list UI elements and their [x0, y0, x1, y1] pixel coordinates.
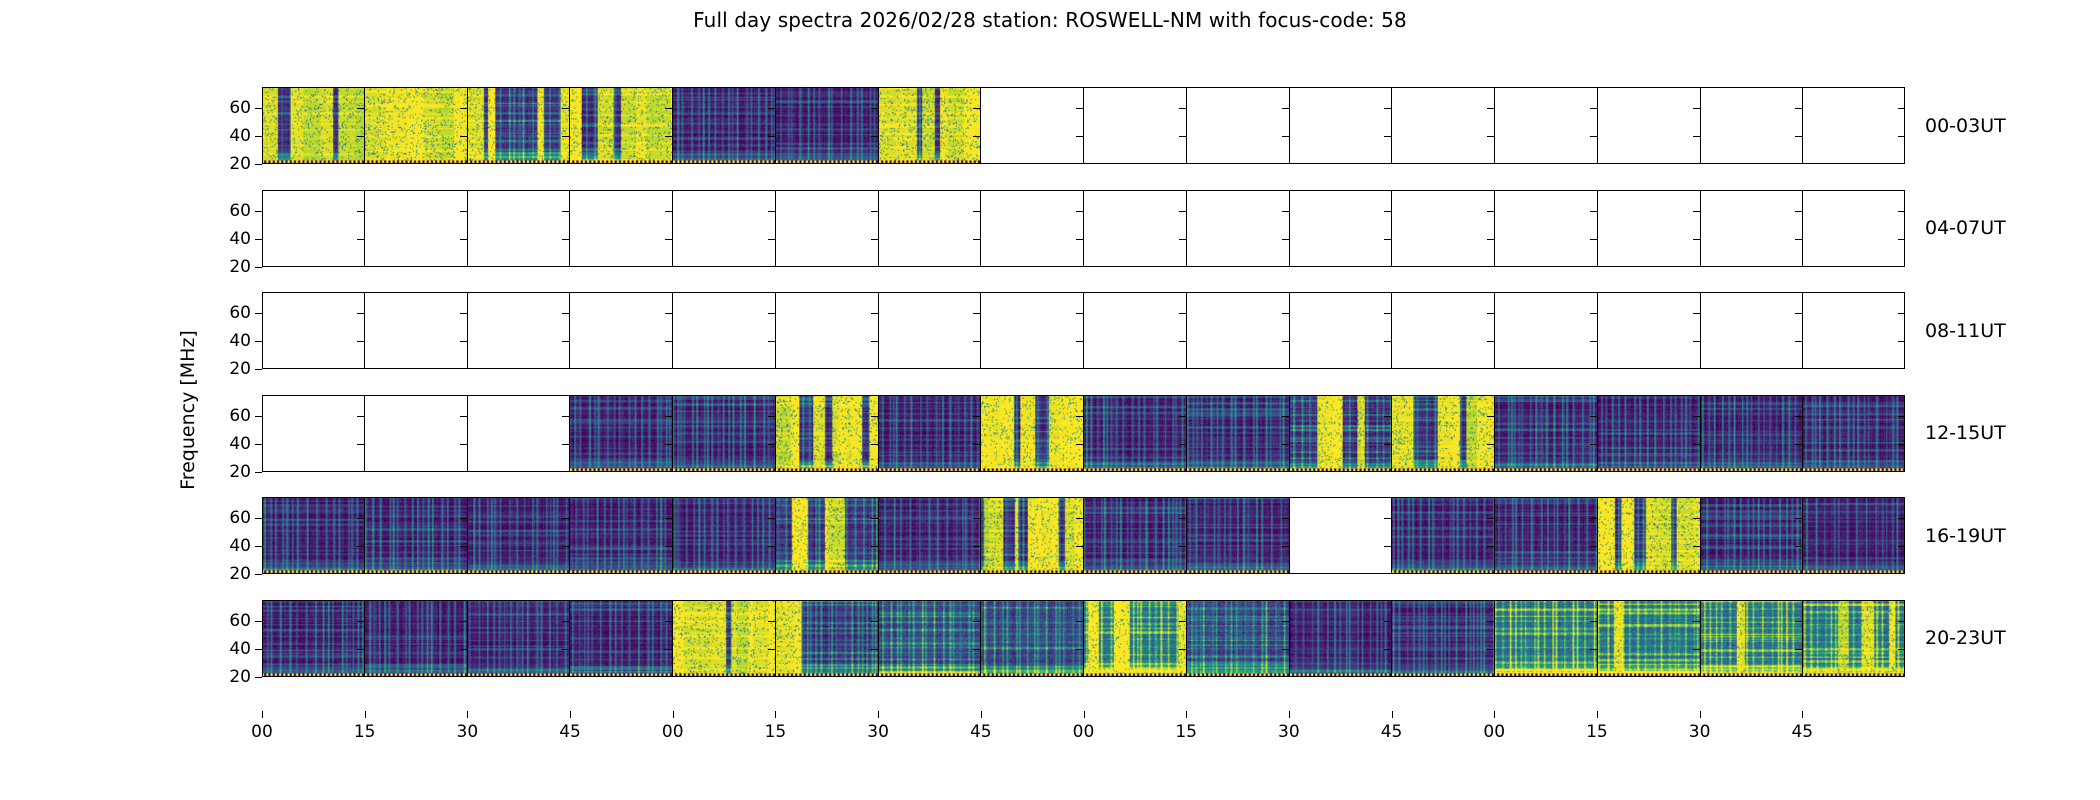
panel-empty[interactable] — [981, 190, 1084, 267]
panel-empty[interactable] — [879, 292, 982, 369]
x-tick-mark — [1084, 711, 1085, 718]
y-tick-mark — [1693, 518, 1700, 519]
panel-spectrogram[interactable] — [1803, 497, 1905, 574]
panel-spectrogram[interactable] — [1290, 395, 1393, 472]
y-tick-mark — [1590, 621, 1597, 622]
x-tick-mark — [1392, 711, 1393, 718]
y-tick-mark — [871, 239, 878, 240]
x-tick-label: 45 — [1791, 722, 1813, 742]
panel-empty[interactable] — [468, 190, 571, 267]
y-tick-mark — [460, 416, 467, 417]
y-tick-mark — [357, 444, 364, 445]
y-tick-label: 40 — [229, 536, 251, 556]
panel-empty[interactable] — [981, 292, 1084, 369]
y-tick-mark — [562, 621, 569, 622]
x-tick-label: 45 — [970, 722, 992, 742]
panel-spectrogram[interactable] — [365, 600, 468, 677]
panel-spectrogram[interactable] — [1187, 395, 1290, 472]
spectrogram-row[interactable]: 204060 — [262, 292, 1905, 369]
y-tick-mark — [871, 621, 878, 622]
panel-empty[interactable] — [468, 292, 571, 369]
y-tick-mark — [1590, 136, 1597, 137]
y-tick-mark — [562, 341, 569, 342]
y-tick-mark — [1076, 211, 1083, 212]
spectrogram-canvas — [1084, 497, 1186, 574]
panel-spectrogram[interactable] — [1701, 395, 1804, 472]
spectrogram-canvas — [570, 600, 672, 677]
x-tick-label: 15 — [765, 722, 787, 742]
y-tick-mark — [460, 211, 467, 212]
panel-spectrogram[interactable] — [1495, 497, 1598, 574]
y-tick-mark — [460, 518, 467, 519]
y-tick-mark — [665, 136, 672, 137]
y-tick-mark — [973, 136, 980, 137]
panel-spectrogram[interactable] — [570, 497, 673, 574]
x-tick-mark — [570, 711, 571, 718]
panel-spectrogram[interactable] — [570, 87, 673, 164]
spectrogram-canvas — [1187, 600, 1289, 677]
y-tick-mark — [1693, 108, 1700, 109]
panel-empty[interactable] — [1495, 292, 1598, 369]
panel-empty[interactable] — [879, 190, 982, 267]
spectrogram-canvas — [1290, 395, 1392, 472]
y-tick-label: 20 — [229, 154, 251, 174]
spectrogram-canvas — [468, 497, 570, 574]
y-tick-mark — [1693, 621, 1700, 622]
y-tick-mark — [460, 239, 467, 240]
y-tick-mark — [871, 313, 878, 314]
x-tick-mark — [467, 711, 468, 718]
spectrogram-canvas — [1495, 395, 1597, 472]
spectrogram-canvas — [1701, 600, 1803, 677]
y-tick-mark — [1795, 239, 1802, 240]
panel-spectrogram[interactable] — [981, 497, 1084, 574]
y-tick-mark — [255, 313, 262, 314]
y-tick-mark — [1282, 621, 1289, 622]
panel-empty[interactable] — [1803, 87, 1905, 164]
spectrogram-canvas — [776, 87, 878, 164]
y-tick-mark — [1384, 518, 1391, 519]
y-tick-mark — [1076, 518, 1083, 519]
panel-spectrogram[interactable] — [1598, 600, 1701, 677]
row-label-ut: 20-23UT — [1925, 627, 2006, 649]
panel-spectrogram[interactable] — [879, 497, 982, 574]
spectrogram-canvas — [1598, 600, 1700, 677]
y-tick-mark — [973, 313, 980, 314]
y-tick-mark — [1795, 136, 1802, 137]
panel-spectrogram[interactable] — [570, 395, 673, 472]
y-tick-mark — [255, 444, 262, 445]
panel-spectrogram[interactable] — [673, 600, 776, 677]
y-tick-mark — [665, 341, 672, 342]
y-tick-mark — [1487, 649, 1494, 650]
y-tick-mark — [1384, 136, 1391, 137]
y-tick-mark — [1076, 621, 1083, 622]
panel-empty[interactable] — [1290, 87, 1393, 164]
row-label-ut: 04-07UT — [1925, 217, 2006, 239]
y-tick-label: 60 — [229, 611, 251, 631]
y-tick-mark — [1898, 546, 1905, 547]
panel-empty[interactable] — [1495, 190, 1598, 267]
panel-spectrogram[interactable] — [981, 395, 1084, 472]
row-label-ut: 16-19UT — [1925, 525, 2006, 547]
spectrogram-canvas — [1290, 600, 1392, 677]
spectrogram-canvas — [1495, 497, 1597, 574]
panel-spectrogram[interactable] — [1495, 600, 1598, 677]
panel-spectrogram[interactable] — [365, 87, 468, 164]
x-tick-label: 15 — [1175, 722, 1197, 742]
y-tick-mark — [1179, 546, 1186, 547]
x-tick-mark — [1289, 711, 1290, 718]
y-tick-mark — [1693, 211, 1700, 212]
panel-empty[interactable] — [1187, 292, 1290, 369]
panel-empty[interactable] — [1084, 190, 1187, 267]
y-tick-mark — [1179, 649, 1186, 650]
y-tick-mark — [1076, 649, 1083, 650]
y-tick-mark — [1590, 341, 1597, 342]
y-tick-mark — [1282, 546, 1289, 547]
panel-empty[interactable] — [776, 292, 879, 369]
row-label-ut: 12-15UT — [1925, 422, 2006, 444]
y-tick-mark — [871, 136, 878, 137]
spectrogram-canvas — [365, 497, 467, 574]
spectrogram-canvas — [1803, 600, 1905, 677]
spectrogram-canvas — [776, 395, 878, 472]
panel-spectrogram[interactable] — [570, 600, 673, 677]
y-tick-mark — [1487, 108, 1494, 109]
panel-empty[interactable] — [570, 292, 673, 369]
y-tick-mark — [1076, 416, 1083, 417]
y-tick-mark — [871, 444, 878, 445]
panel-spectrogram[interactable] — [1084, 497, 1187, 574]
y-tick-mark — [562, 518, 569, 519]
panel-empty[interactable] — [1598, 292, 1701, 369]
y-tick-mark — [255, 164, 262, 165]
panel-spectrogram[interactable] — [1392, 395, 1495, 472]
panel-spectrogram[interactable] — [879, 600, 982, 677]
y-tick-label: 60 — [229, 406, 251, 426]
panel-spectrogram[interactable] — [1290, 600, 1393, 677]
row-panels — [262, 292, 1905, 369]
y-tick-mark — [1076, 444, 1083, 445]
y-tick-mark — [1282, 136, 1289, 137]
spectrogram-canvas — [981, 395, 1083, 472]
x-tick-label: 15 — [354, 722, 376, 742]
y-tick-mark — [1693, 416, 1700, 417]
y-tick-mark — [1898, 108, 1905, 109]
row-panels — [262, 600, 1905, 677]
y-tick-mark — [1487, 239, 1494, 240]
y-tick-mark — [255, 518, 262, 519]
spectrogram-canvas — [1701, 395, 1803, 472]
y-tick-mark — [1282, 444, 1289, 445]
y-tick-mark — [973, 621, 980, 622]
y-tick-mark — [1898, 621, 1905, 622]
y-tick-mark — [768, 341, 775, 342]
panel-empty[interactable] — [1701, 87, 1804, 164]
spectrogram-canvas — [365, 87, 467, 164]
panel-spectrogram[interactable] — [981, 600, 1084, 677]
panel-empty[interactable] — [1495, 87, 1598, 164]
y-tick-mark — [973, 649, 980, 650]
panel-empty[interactable] — [1392, 292, 1495, 369]
y-tick-mark — [1076, 108, 1083, 109]
y-tick-mark — [665, 108, 672, 109]
panel-empty[interactable] — [673, 190, 776, 267]
spectrogram-row[interactable]: 204060 — [262, 395, 1905, 472]
y-tick-mark — [1590, 518, 1597, 519]
y-tick-mark — [1384, 239, 1391, 240]
y-tick-mark — [1384, 444, 1391, 445]
y-tick-mark — [1590, 211, 1597, 212]
y-tick-mark — [255, 546, 262, 547]
panel-empty[interactable] — [1084, 292, 1187, 369]
panel-spectrogram[interactable] — [262, 497, 365, 574]
y-tick-mark — [255, 677, 262, 678]
panel-empty[interactable] — [365, 292, 468, 369]
y-tick-mark — [1693, 341, 1700, 342]
y-tick-mark — [1179, 341, 1186, 342]
panel-spectrogram[interactable] — [879, 87, 982, 164]
y-tick-mark — [665, 518, 672, 519]
panel-empty[interactable] — [1187, 87, 1290, 164]
y-tick-mark — [871, 546, 878, 547]
y-tick-mark — [1384, 621, 1391, 622]
row-panels — [262, 87, 1905, 164]
y-tick-mark — [1590, 239, 1597, 240]
panel-empty[interactable] — [262, 190, 365, 267]
y-tick-mark — [1795, 416, 1802, 417]
panel-spectrogram[interactable] — [1187, 497, 1290, 574]
y-tick-label: 20 — [229, 359, 251, 379]
y-tick-mark — [357, 239, 364, 240]
panel-empty[interactable] — [776, 190, 879, 267]
y-tick-mark — [1179, 211, 1186, 212]
y-tick-mark — [1384, 211, 1391, 212]
row-label-ut: 00-03UT — [1925, 115, 2006, 137]
y-tick-mark — [1590, 416, 1597, 417]
x-tick-label: 45 — [559, 722, 581, 742]
x-tick-label: 00 — [251, 722, 273, 742]
spectrogram-canvas — [1598, 395, 1700, 472]
y-tick-mark — [665, 211, 672, 212]
panel-spectrogram[interactable] — [673, 87, 776, 164]
spectrogram-canvas — [673, 600, 775, 677]
y-tick-mark — [1282, 341, 1289, 342]
panel-empty[interactable] — [1598, 87, 1701, 164]
spectrogram-row[interactable]: 204060 — [262, 600, 1905, 677]
y-tick-mark — [665, 444, 672, 445]
y-tick-mark — [255, 136, 262, 137]
panel-empty[interactable] — [1701, 292, 1804, 369]
y-tick-mark — [460, 546, 467, 547]
panel-spectrogram[interactable] — [776, 497, 879, 574]
y-tick-mark — [255, 369, 262, 370]
panel-empty[interactable] — [1803, 292, 1905, 369]
spectrogram-canvas — [262, 497, 364, 574]
y-tick-mark — [1590, 649, 1597, 650]
y-tick-mark — [562, 108, 569, 109]
y-tick-mark — [1795, 211, 1802, 212]
panel-spectrogram[interactable] — [776, 395, 879, 472]
spectrogram-canvas — [1701, 497, 1803, 574]
panel-spectrogram[interactable] — [1084, 600, 1187, 677]
panel-empty[interactable] — [1290, 292, 1393, 369]
panel-spectrogram[interactable] — [262, 87, 365, 164]
panel-spectrogram[interactable] — [776, 600, 879, 677]
panel-spectrogram[interactable] — [468, 497, 571, 574]
y-tick-label: 20 — [229, 667, 251, 687]
panel-spectrogram[interactable] — [365, 497, 468, 574]
spectrogram-row[interactable]: 204060 — [262, 497, 1905, 574]
panel-empty[interactable] — [1803, 190, 1905, 267]
panel-empty[interactable] — [1187, 190, 1290, 267]
y-tick-mark — [255, 267, 262, 268]
panel-spectrogram[interactable] — [673, 395, 776, 472]
y-tick-mark — [1487, 621, 1494, 622]
y-tick-mark — [1384, 313, 1391, 314]
y-tick-mark — [1795, 313, 1802, 314]
y-tick-mark — [255, 108, 262, 109]
panel-spectrogram[interactable] — [1392, 600, 1495, 677]
spectrogram-canvas — [1803, 395, 1905, 472]
y-tick-mark — [1282, 313, 1289, 314]
y-tick-mark — [562, 546, 569, 547]
panel-spectrogram[interactable] — [1701, 497, 1804, 574]
y-tick-mark — [357, 416, 364, 417]
x-tick-mark — [775, 711, 776, 718]
panel-spectrogram[interactable] — [1803, 600, 1905, 677]
panel-empty[interactable] — [570, 190, 673, 267]
panel-empty[interactable] — [1392, 190, 1495, 267]
panel-spectrogram[interactable] — [776, 87, 879, 164]
spectrogram-canvas — [262, 600, 364, 677]
y-tick-mark — [1179, 136, 1186, 137]
y-tick-label: 20 — [229, 462, 251, 482]
y-tick-mark — [357, 649, 364, 650]
panel-empty[interactable] — [262, 292, 365, 369]
y-tick-label: 60 — [229, 98, 251, 118]
y-tick-mark — [1898, 444, 1905, 445]
y-tick-label: 40 — [229, 229, 251, 249]
spectrogram-canvas — [879, 395, 981, 472]
y-tick-mark — [768, 108, 775, 109]
y-tick-mark — [562, 211, 569, 212]
panel-empty[interactable] — [365, 190, 468, 267]
y-tick-mark — [1282, 518, 1289, 519]
panel-spectrogram[interactable] — [468, 600, 571, 677]
x-tick-label: 30 — [457, 722, 479, 742]
panel-empty[interactable] — [981, 87, 1084, 164]
panel-spectrogram[interactable] — [468, 87, 571, 164]
y-tick-mark — [1898, 239, 1905, 240]
panel-empty[interactable] — [1701, 190, 1804, 267]
row-panels — [262, 497, 1905, 574]
spectrogram-row[interactable]: 204060 — [262, 190, 1905, 267]
panel-spectrogram[interactable] — [1803, 395, 1905, 472]
y-tick-mark — [871, 416, 878, 417]
y-tick-mark — [357, 108, 364, 109]
y-tick-mark — [1179, 239, 1186, 240]
spectrogram-row[interactable]: 204060 — [262, 87, 1905, 164]
row-panels — [262, 190, 1905, 267]
row-label-ut: 08-11UT — [1925, 320, 2006, 342]
panel-spectrogram[interactable] — [1187, 600, 1290, 677]
y-tick-mark — [1179, 416, 1186, 417]
y-tick-mark — [973, 444, 980, 445]
y-tick-mark — [768, 444, 775, 445]
y-tick-mark — [1384, 341, 1391, 342]
spectrogram-canvas — [570, 497, 672, 574]
y-tick-mark — [973, 239, 980, 240]
panel-spectrogram[interactable] — [1701, 600, 1804, 677]
panel-spectrogram[interactable] — [1495, 395, 1598, 472]
y-tick-mark — [1282, 108, 1289, 109]
y-tick-mark — [1898, 341, 1905, 342]
y-tick-mark — [1795, 341, 1802, 342]
y-tick-mark — [1076, 239, 1083, 240]
y-tick-mark — [973, 416, 980, 417]
y-tick-mark — [460, 621, 467, 622]
spectrogram-canvas — [570, 87, 672, 164]
y-tick-mark — [1898, 211, 1905, 212]
y-tick-mark — [871, 341, 878, 342]
y-tick-mark — [255, 239, 262, 240]
spectrogram-canvas — [1084, 395, 1186, 472]
spectrogram-canvas — [879, 497, 981, 574]
panel-empty[interactable] — [1084, 87, 1187, 164]
y-tick-mark — [1282, 239, 1289, 240]
y-tick-mark — [562, 313, 569, 314]
y-tick-label: 60 — [229, 508, 251, 528]
y-tick-mark — [1898, 649, 1905, 650]
panel-spectrogram[interactable] — [673, 497, 776, 574]
panel-spectrogram[interactable] — [262, 600, 365, 677]
y-tick-mark — [357, 136, 364, 137]
panel-spectrogram[interactable] — [1598, 497, 1701, 574]
spectrogram-canvas — [1598, 497, 1700, 574]
panel-spectrogram[interactable] — [1084, 395, 1187, 472]
y-tick-mark — [973, 211, 980, 212]
y-tick-mark — [255, 472, 262, 473]
x-tick-label: 45 — [1381, 722, 1403, 742]
panel-empty[interactable] — [673, 292, 776, 369]
y-tick-mark — [1384, 416, 1391, 417]
y-tick-mark — [1590, 546, 1597, 547]
y-tick-mark — [1590, 444, 1597, 445]
panel-empty[interactable] — [1598, 190, 1701, 267]
y-tick-mark — [562, 239, 569, 240]
y-tick-mark — [1693, 239, 1700, 240]
y-tick-mark — [871, 649, 878, 650]
y-tick-mark — [1384, 546, 1391, 547]
panel-empty[interactable] — [1392, 87, 1495, 164]
panel-spectrogram[interactable] — [879, 395, 982, 472]
panel-spectrogram[interactable] — [1392, 497, 1495, 574]
panel-empty[interactable] — [262, 395, 365, 472]
panel-spectrogram[interactable] — [1598, 395, 1701, 472]
y-tick-mark — [460, 341, 467, 342]
panel-empty[interactable] — [1290, 497, 1393, 574]
spectrogram-canvas — [1187, 395, 1289, 472]
panel-empty[interactable] — [1290, 190, 1393, 267]
y-tick-mark — [1282, 416, 1289, 417]
panel-empty[interactable] — [468, 395, 571, 472]
y-tick-mark — [973, 546, 980, 547]
y-tick-mark — [1487, 136, 1494, 137]
y-tick-mark — [1693, 313, 1700, 314]
panel-empty[interactable] — [365, 395, 468, 472]
